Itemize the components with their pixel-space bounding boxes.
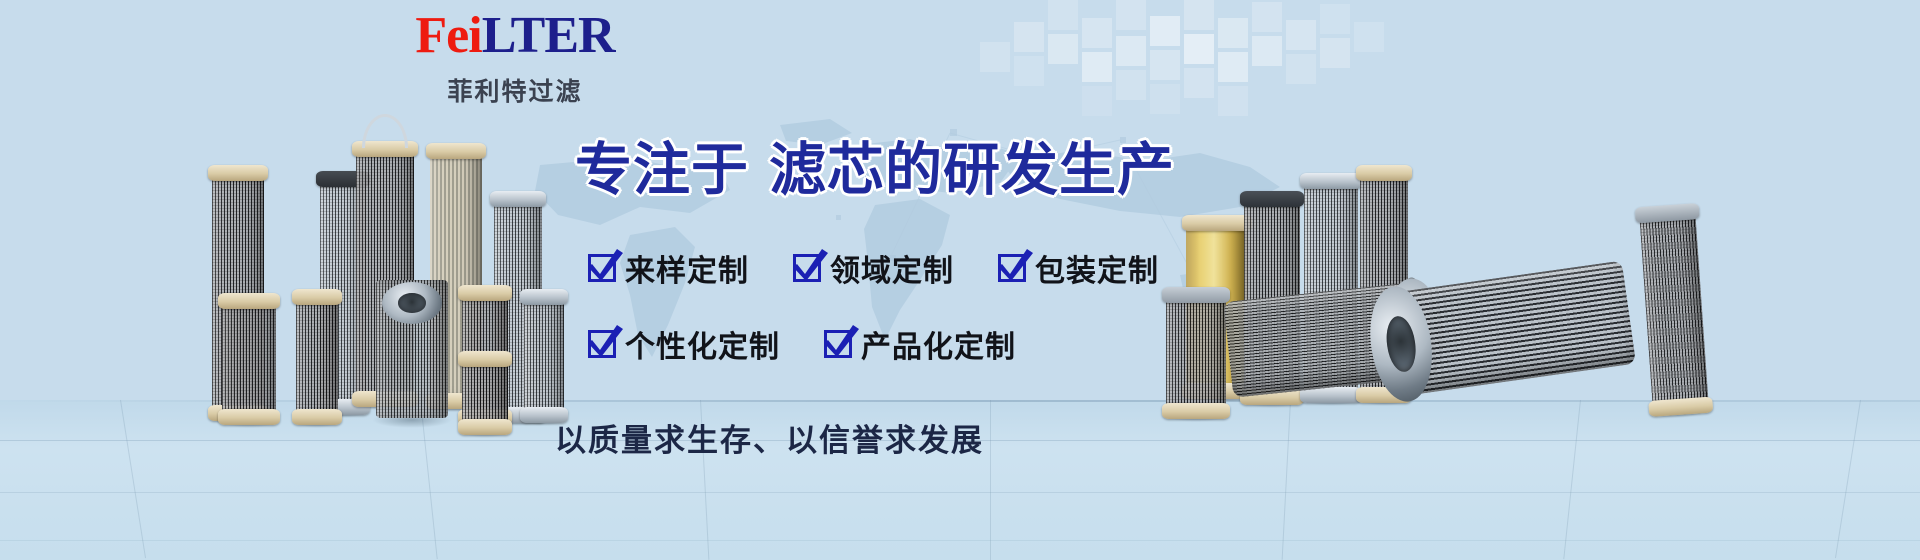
logo-wordmark-secondary: LTER [482,7,615,64]
feature-list: 来样定制 领域定制 包装定制 [588,246,1159,366]
logo-wordmark: FeiLTER [385,8,645,64]
checked-checkbox-icon [793,254,821,282]
filter-cartridge [1166,294,1226,412]
logo-wordmark-primary: Fei [415,7,481,64]
feature-item: 包装定制 [998,246,1159,290]
headline-part2: 滤芯的研发生产 [769,137,1175,203]
checked-checkbox-icon [588,254,616,282]
filter-cartridge [1639,210,1709,409]
filter-cartridge-horizontal [1394,261,1636,396]
feature-label: 个性化定制 [625,322,780,366]
feature-label: 包装定制 [1035,246,1159,290]
feature-label: 领域定制 [830,246,954,290]
feature-item: 个性化定制 [588,322,780,366]
feature-item: 来样定制 [588,246,749,290]
filter-cartridge [462,358,508,428]
checked-checkbox-icon [588,330,616,358]
horizon-line [0,400,1920,402]
feature-item: 产品化定制 [824,322,1016,366]
checked-checkbox-icon [998,254,1026,282]
cartridge-handle [362,114,408,148]
headline: 专注于滤芯的研发生产 [575,138,1175,202]
filter-cartridge [376,280,448,418]
feature-label: 来样定制 [625,246,749,290]
checked-checkbox-icon [824,330,852,358]
filter-cartridge [296,296,338,418]
tagline: 以质量求生存、以信誉求发展 [555,415,1195,460]
logo-chinese-name: 菲利特过滤 [385,72,645,108]
promotional-banner: FeiLTER 菲利特过滤 专注于滤芯的研发生产 来样定制 领 [0,0,1920,560]
feature-row: 来样定制 领域定制 包装定制 [588,246,1159,290]
brand-logo: FeiLTER 菲利特过滤 [385,8,645,108]
filter-cartridge [524,296,564,416]
feature-item: 领域定制 [793,246,954,290]
feature-label: 产品化定制 [861,322,1016,366]
headline-part1: 专注于 [575,137,749,203]
cartridge-end-ring [382,282,442,324]
feature-row: 个性化定制 产品化定制 [588,322,1159,366]
filter-cartridge [222,300,276,418]
